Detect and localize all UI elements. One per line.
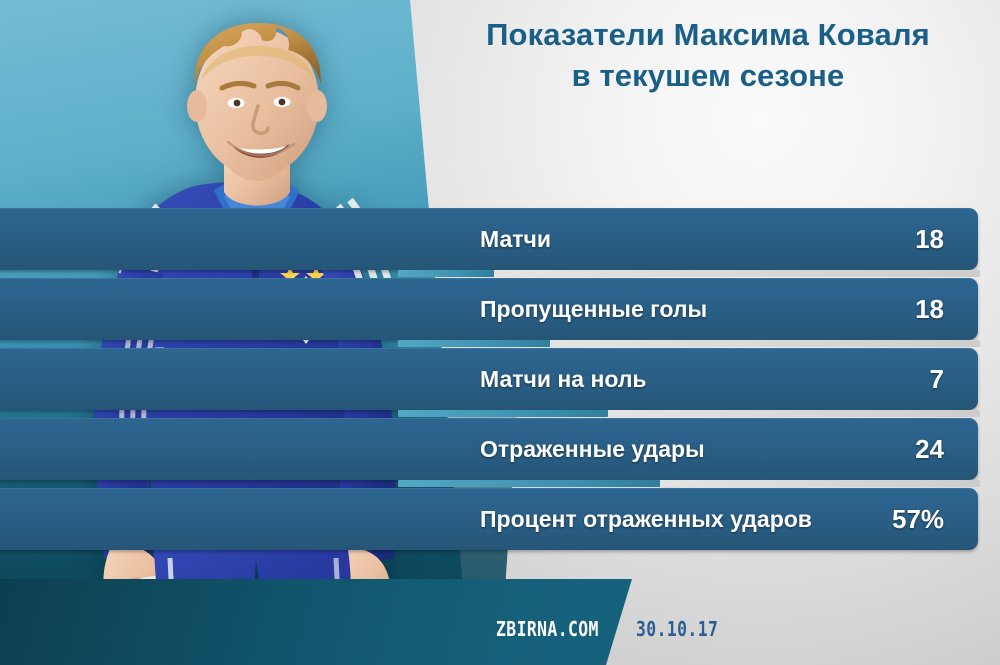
stat-label: Процент отраженных ударов bbox=[480, 506, 812, 533]
stat-label: Матчи на ноль bbox=[480, 366, 647, 393]
stat-bar-matches: Матчи 18 bbox=[0, 208, 978, 270]
stat-value: 18 bbox=[915, 224, 944, 255]
accent-stripe bbox=[398, 340, 550, 347]
accent-stripe-gray bbox=[550, 340, 980, 347]
stat-value: 7 bbox=[930, 364, 944, 395]
accent-stripe bbox=[398, 480, 660, 487]
stat-bar-conceded-goals: Пропущенные голы 18 bbox=[0, 278, 978, 340]
stats-list: Матчи 18 Пропущенные голы 18 Матчи на но… bbox=[0, 200, 1000, 550]
stat-row: Матчи 18 bbox=[0, 200, 1000, 270]
stat-value: 18 bbox=[915, 294, 944, 325]
stat-label: Пропущенные голы bbox=[480, 296, 707, 323]
stat-row: Пропущенные голы 18 bbox=[0, 270, 1000, 340]
page-title: Показатели Максима Коваля в текушем сезо… bbox=[430, 14, 986, 96]
stat-bar-clean-sheets: Матчи на ноль 7 bbox=[0, 348, 978, 410]
accent-stripe bbox=[398, 410, 608, 417]
stat-row: Матчи на ноль 7 bbox=[0, 340, 1000, 410]
stat-bar-saves: Отраженные удары 24 bbox=[0, 418, 978, 480]
publish-date: 30.10.17 bbox=[636, 617, 718, 641]
accent-stripe bbox=[398, 270, 494, 277]
stat-row: Отраженные удары 24 bbox=[0, 410, 1000, 480]
accent-stripe-gray bbox=[494, 270, 980, 277]
page-title-line2: в текушем сезоне bbox=[430, 55, 986, 96]
infographic-canvas: Д adidas 35 bbox=[0, 0, 1000, 665]
stat-label: Матчи bbox=[480, 226, 551, 253]
accent-stripe-gray bbox=[608, 410, 980, 417]
accent-stripe-gray bbox=[660, 480, 980, 487]
stat-value: 57% bbox=[892, 504, 944, 535]
stat-bar-save-percentage: Процент отраженных ударов 57% bbox=[0, 488, 978, 550]
stat-value: 24 bbox=[915, 434, 944, 465]
stat-row: Процент отраженных ударов 57% bbox=[0, 480, 1000, 550]
site-brand: ZBIRNA.COM bbox=[496, 617, 599, 641]
stat-label: Отраженные удары bbox=[480, 436, 705, 463]
page-title-line1: Показатели Максима Коваля bbox=[486, 17, 930, 52]
